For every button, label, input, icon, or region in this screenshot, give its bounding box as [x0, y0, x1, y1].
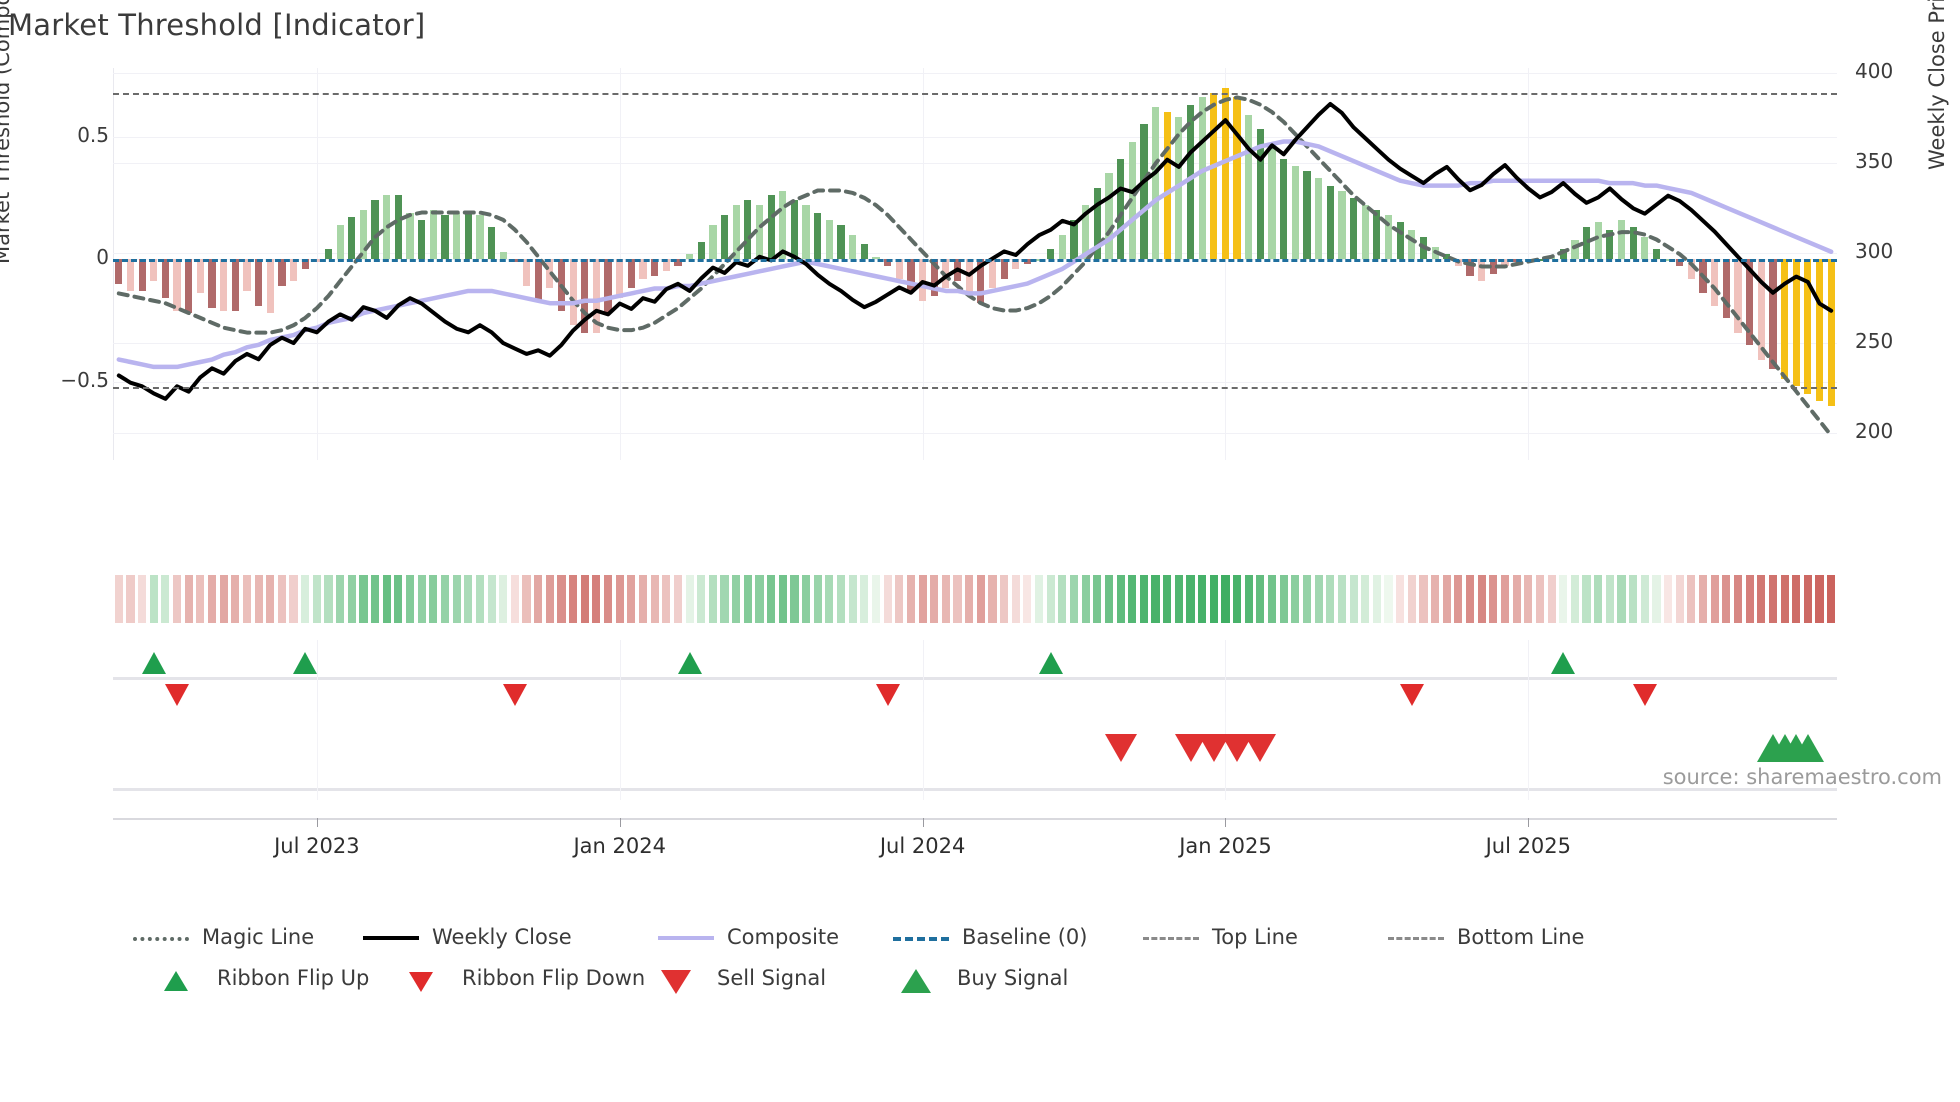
ribbon-cell	[790, 575, 798, 623]
ribbon-cell	[1035, 575, 1043, 623]
top-line-swatch	[1143, 927, 1199, 947]
ribbon-cell	[1012, 575, 1020, 623]
ribbon-cell	[1093, 575, 1101, 623]
ribbon-cell	[581, 575, 589, 623]
ribbon-cell	[1815, 575, 1823, 623]
ribbon-cell	[1000, 575, 1008, 623]
legend-label: Weekly Close	[432, 925, 572, 949]
ribbon-cell	[1687, 575, 1695, 623]
y-tick-label-right: 250	[1855, 329, 1945, 353]
ribbon-cell	[1454, 575, 1462, 623]
ribbon-cell	[720, 575, 728, 623]
top-line	[113, 93, 1837, 95]
ribbon-cell	[1431, 575, 1439, 623]
ribbon-cell	[1629, 575, 1637, 623]
ribbon-cell	[348, 575, 356, 623]
ribbon-cell	[359, 575, 367, 623]
buy-signal-swatch	[888, 968, 944, 988]
baseline-zero-line	[113, 259, 1837, 262]
signal-row-axis	[113, 788, 1837, 791]
ribbon-cell	[1338, 575, 1346, 623]
ribbon-cell	[336, 575, 344, 623]
ribbon-cell	[1513, 575, 1521, 623]
ribbon-cell	[802, 575, 810, 623]
ribbon-cell	[1419, 575, 1427, 623]
ribbon-cell	[1676, 575, 1684, 623]
ribbon-flip-down-swatch	[393, 968, 449, 988]
legend-label: Ribbon Flip Up	[217, 966, 369, 990]
ribbon-cell	[988, 575, 996, 623]
ribbon-cell	[814, 575, 822, 623]
ribbon-cell	[1478, 575, 1486, 623]
ribbon-cell	[1070, 575, 1078, 623]
x-tick-label: Jul 2025	[1486, 834, 1571, 858]
y-tick-label-right: 350	[1855, 149, 1945, 173]
ribbon-cell	[1746, 575, 1754, 623]
ribbon-cell	[1408, 575, 1416, 623]
x-tick	[1528, 818, 1529, 827]
line-series-overlay	[113, 68, 1837, 460]
ribbon-flip-up-marker	[678, 652, 702, 674]
ribbon-cell	[1128, 575, 1136, 623]
ribbon-cell	[441, 575, 449, 623]
ribbon-cell	[627, 575, 635, 623]
ribbon-cell	[476, 575, 484, 623]
sell-signal-marker	[1105, 734, 1137, 762]
ribbon-cell	[1291, 575, 1299, 623]
ribbon-cell	[453, 575, 461, 623]
legend-item-bottom-line[interactable]: Bottom Line	[1388, 920, 1584, 954]
ribbon-cell	[860, 575, 868, 623]
ribbon-cell	[488, 575, 496, 623]
ribbon-cell	[522, 575, 530, 623]
y-tick-label-right: 200	[1855, 419, 1945, 443]
legend-label: Baseline (0)	[962, 925, 1087, 949]
signal-row-gridline	[923, 712, 924, 800]
ribbon-cell	[1163, 575, 1171, 623]
source-attribution: source: sharemaestro.com	[1663, 765, 1942, 789]
ribbon-cell	[1443, 575, 1451, 623]
x-tick	[620, 818, 621, 827]
ribbon-cell	[686, 575, 694, 623]
flip-row-gridline	[1528, 640, 1529, 715]
ribbon-flip-down-marker	[876, 684, 900, 706]
ribbon-cell	[138, 575, 146, 623]
ribbon-strength-strip	[113, 575, 1837, 623]
signal-row-gridline	[317, 712, 318, 800]
ribbon-cell	[1652, 575, 1660, 623]
ribbon-cell	[662, 575, 670, 623]
ribbon-cell	[1699, 575, 1707, 623]
legend-item-top-line[interactable]: Top Line	[1143, 920, 1298, 954]
ribbon-cell	[767, 575, 775, 623]
ribbon-cell	[266, 575, 274, 623]
ribbon-cell	[697, 575, 705, 623]
ribbon-cell	[499, 575, 507, 623]
ribbon-cell	[557, 575, 565, 623]
legend-label: Sell Signal	[717, 966, 826, 990]
ribbon-cell	[1175, 575, 1183, 623]
ribbon-cell	[1536, 575, 1544, 623]
x-tick	[317, 818, 318, 827]
ribbon-cell	[744, 575, 752, 623]
weekly-close-line-path	[119, 104, 1831, 399]
ribbon-cell	[732, 575, 740, 623]
ribbon-cell	[1210, 575, 1218, 623]
ribbon-cell	[406, 575, 414, 623]
signal-row-gridline	[620, 712, 621, 800]
ribbon-cell	[1792, 575, 1800, 623]
legend-item-composite[interactable]: Composite	[658, 920, 839, 954]
x-tick-label: Jan 2024	[573, 834, 666, 858]
ribbon-cell	[1268, 575, 1276, 623]
ribbon-cell	[126, 575, 134, 623]
ribbon-cell	[1384, 575, 1392, 623]
ribbon-cell	[1606, 575, 1614, 623]
ribbon-cell	[1501, 575, 1509, 623]
ribbon-cell	[1326, 575, 1334, 623]
ribbon-cell	[1781, 575, 1789, 623]
ribbon-cell	[977, 575, 985, 623]
y-tick-label-left: 0.5	[19, 123, 109, 147]
y-tick-label-left: 0	[19, 245, 109, 269]
x-tick-label: Jul 2024	[880, 834, 965, 858]
ribbon-cell	[907, 575, 915, 623]
ribbon-cell	[953, 575, 961, 623]
ribbon-cell	[289, 575, 297, 623]
ribbon-cell	[1058, 575, 1066, 623]
ribbon-cell	[592, 575, 600, 623]
legend-item-sell-signal[interactable]: Sell Signal	[648, 961, 826, 995]
ribbon-cell	[1350, 575, 1358, 623]
flip-row-gridline	[1225, 640, 1226, 715]
y-tick-label-right: 400	[1855, 59, 1945, 83]
ribbon-cell	[1769, 575, 1777, 623]
ribbon-cell	[1233, 575, 1241, 623]
ribbon-cell	[919, 575, 927, 623]
ribbon-cell	[1117, 575, 1125, 623]
ribbon-flip-up-marker	[142, 652, 166, 674]
bottom-line-swatch	[1388, 927, 1444, 947]
ribbon-cell	[1151, 575, 1159, 623]
ribbon-cell	[429, 575, 437, 623]
ribbon-cell	[383, 575, 391, 623]
ribbon-cell	[1734, 575, 1742, 623]
magic-line-path	[119, 97, 1831, 435]
ribbon-cell	[1303, 575, 1311, 623]
ribbon-cell	[942, 575, 950, 623]
ribbon-cell	[1594, 575, 1602, 623]
ribbon-cell	[616, 575, 624, 623]
ribbon-cell	[1023, 575, 1031, 623]
ribbon-cell	[1221, 575, 1229, 623]
ribbon-cell	[1641, 575, 1649, 623]
ribbon-cell	[1559, 575, 1567, 623]
x-tick	[923, 818, 924, 827]
ribbon-cell	[196, 575, 204, 623]
ribbon-cell	[674, 575, 682, 623]
buy-signal-marker	[1792, 734, 1824, 762]
ribbon-cell	[930, 575, 938, 623]
signal-row-gridline	[1528, 712, 1529, 800]
signal-marker-row	[113, 712, 1837, 800]
ribbon-cell	[1256, 575, 1264, 623]
ribbon-cell	[1617, 575, 1625, 623]
ribbon-cell	[546, 575, 554, 623]
ribbon-cell	[709, 575, 717, 623]
ribbon-flip-down-marker	[165, 684, 189, 706]
ribbon-cell	[1186, 575, 1194, 623]
ribbon-cell	[1373, 575, 1381, 623]
legend-label: Magic Line	[202, 925, 314, 949]
y-axis-right-title: Weekly Close Price	[1925, 0, 1949, 170]
ribbon-cell	[569, 575, 577, 623]
legend-label: Bottom Line	[1457, 925, 1584, 949]
ribbon-cell	[255, 575, 263, 623]
ribbon-cell	[895, 575, 903, 623]
ribbon-cell	[1722, 575, 1730, 623]
ribbon-cell	[1664, 575, 1672, 623]
ribbon-cell	[173, 575, 181, 623]
ribbon-cell	[534, 575, 542, 623]
main-plot-area	[113, 68, 1837, 460]
ribbon-cell	[1198, 575, 1206, 623]
ribbon-cell	[755, 575, 763, 623]
ribbon-flip-marker-row	[113, 640, 1837, 715]
ribbon-cell	[872, 575, 880, 623]
ribbon-cell	[1245, 575, 1253, 623]
composite-swatch	[658, 927, 714, 947]
y-tick-label-left: −0.5	[19, 368, 109, 392]
chart-legend: Magic LineWeekly CloseCompositeBaseline …	[113, 920, 1873, 1030]
ribbon-cell	[208, 575, 216, 623]
ribbon-cell	[1524, 575, 1532, 623]
ribbon-cell	[779, 575, 787, 623]
ribbon-flip-down-marker	[503, 684, 527, 706]
ribbon-cell	[825, 575, 833, 623]
flip-row-axis	[113, 677, 1837, 680]
ribbon-cell	[1082, 575, 1090, 623]
ribbon-cell	[1361, 575, 1369, 623]
ribbon-cell	[371, 575, 379, 623]
legend-item-magic-line[interactable]: Magic Line	[133, 920, 314, 954]
ribbon-flip-down-marker	[1400, 684, 1424, 706]
legend-item-ribbon-flip-up[interactable]: Ribbon Flip Up	[148, 961, 369, 995]
ribbon-cell	[511, 575, 519, 623]
ribbon-cell	[1047, 575, 1055, 623]
x-axis: Jul 2023Jan 2024Jul 2024Jan 2025Jul 2025	[113, 818, 1837, 878]
x-tick	[1225, 818, 1226, 827]
ribbon-cell	[231, 575, 239, 623]
x-tick-label: Jul 2023	[274, 834, 359, 858]
ribbon-cell	[220, 575, 228, 623]
legend-label: Top Line	[1212, 925, 1298, 949]
y-axis-left-title: Market Threshold (Composite)	[0, 0, 14, 264]
legend-label: Ribbon Flip Down	[462, 966, 645, 990]
ribbon-cell	[884, 575, 892, 623]
composite-line-path	[119, 142, 1831, 367]
ribbon-cell	[604, 575, 612, 623]
baseline-swatch	[893, 927, 949, 947]
ribbon-cell	[1711, 575, 1719, 623]
ribbon-cell	[1571, 575, 1579, 623]
ribbon-cell	[1396, 575, 1404, 623]
ribbon-cell	[1582, 575, 1590, 623]
legend-item-ribbon-flip-down[interactable]: Ribbon Flip Down	[393, 961, 645, 995]
ribbon-cell	[1804, 575, 1812, 623]
ribbon-cell	[1140, 575, 1148, 623]
ribbon-cell	[313, 575, 321, 623]
ribbon-cell	[150, 575, 158, 623]
ribbon-cell	[243, 575, 251, 623]
magic-line-swatch	[133, 927, 189, 947]
x-tick-label: Jan 2025	[1179, 834, 1272, 858]
page-title: Market Threshold [Indicator]	[8, 8, 425, 42]
ribbon-flip-up-swatch	[148, 968, 204, 988]
legend-label: Buy Signal	[957, 966, 1068, 990]
ribbon-cell	[849, 575, 857, 623]
ribbon-cell	[185, 575, 193, 623]
ribbon-flip-up-marker	[1551, 652, 1575, 674]
ribbon-cell	[1489, 575, 1497, 623]
weekly-close-swatch	[363, 927, 419, 947]
ribbon-cell	[115, 575, 123, 623]
legend-item-weekly-close[interactable]: Weekly Close	[363, 920, 572, 954]
ribbon-cell	[1466, 575, 1474, 623]
ribbon-cell	[651, 575, 659, 623]
ribbon-cell	[1280, 575, 1288, 623]
ribbon-flip-up-marker	[1039, 652, 1063, 674]
ribbon-cell	[1757, 575, 1765, 623]
x-axis-line	[113, 818, 1837, 820]
ribbon-cell	[161, 575, 169, 623]
ribbon-cell	[1105, 575, 1113, 623]
y-tick-label-right: 300	[1855, 239, 1945, 263]
ribbon-cell	[1827, 575, 1835, 623]
sell-signal-swatch	[648, 968, 704, 988]
ribbon-cell	[1548, 575, 1556, 623]
ribbon-flip-down-marker	[1633, 684, 1657, 706]
ribbon-cell	[965, 575, 973, 623]
ribbon-cell	[324, 575, 332, 623]
sell-signal-marker	[1244, 734, 1276, 762]
flip-row-gridline	[923, 640, 924, 715]
ribbon-flip-up-marker	[293, 652, 317, 674]
ribbon-cell	[301, 575, 309, 623]
flip-row-gridline	[620, 640, 621, 715]
ribbon-cell	[418, 575, 426, 623]
ribbon-cell	[464, 575, 472, 623]
legend-item-buy-signal[interactable]: Buy Signal	[888, 961, 1068, 995]
ribbon-cell	[278, 575, 286, 623]
legend-label: Composite	[727, 925, 839, 949]
ribbon-cell	[837, 575, 845, 623]
legend-item-baseline[interactable]: Baseline (0)	[893, 920, 1087, 954]
ribbon-cell	[1315, 575, 1323, 623]
bottom-line	[113, 387, 1837, 389]
ribbon-cell	[394, 575, 402, 623]
ribbon-cell	[639, 575, 647, 623]
chart-root: Market Threshold [Indicator] Market Thre…	[0, 0, 1960, 1102]
